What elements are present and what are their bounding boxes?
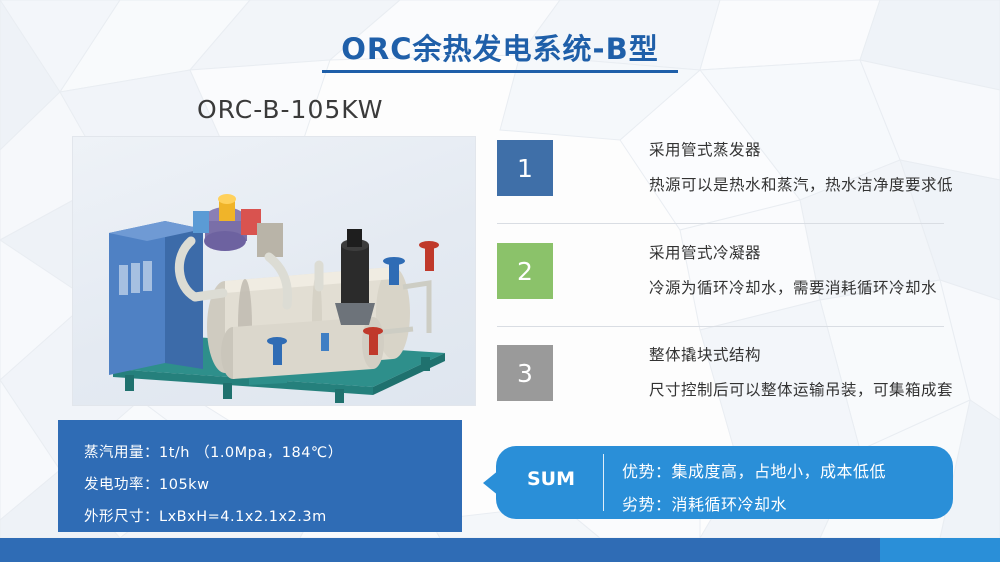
page-title: ORC余热发电系统-B型 [0, 26, 1000, 68]
spec-line-dimensions: 外形尺寸：LxBxH=4.1x2.1x2.3m [84, 505, 327, 526]
summary-separator [603, 454, 604, 511]
feature-number-2: 2 [497, 243, 553, 299]
feature-heading-2: 采用管式冷凝器 [649, 241, 937, 263]
feature-heading-1: 采用管式蒸发器 [649, 138, 953, 160]
bottom-bar-accent [880, 538, 1000, 562]
feature-text-1: 采用管式蒸发器 热源可以是热水和蒸汽，热水洁净度要求低 [649, 138, 953, 195]
feature-detail-1: 热源可以是热水和蒸汽，热水洁净度要求低 [649, 173, 953, 195]
title-underline [322, 70, 678, 73]
summary-label: SUM [527, 468, 575, 490]
feature-divider-1 [497, 223, 944, 224]
feature-number-1: 1 [497, 140, 553, 196]
feature-item-1: 1 采用管式蒸发器 热源可以是热水和蒸汽，热水洁净度要求低 [497, 140, 953, 196]
feature-detail-2: 冷源为循环冷却水，需要消耗循环冷却水 [649, 276, 937, 298]
feature-heading-3: 整体撬块式结构 [649, 343, 953, 365]
model-name: ORC-B-105KW [197, 95, 384, 124]
summary-panel: SUM 优势：集成度高，占地小，成本低低 劣势：消耗循环冷却水 [496, 446, 953, 519]
spec-line-steam: 蒸汽用量：1t/h （1.0Mpa，184℃） [84, 441, 343, 462]
spec-line-power: 发电功率：105kw [84, 473, 209, 494]
summary-line-advantage: 优势：集成度高，占地小，成本低低 [622, 458, 886, 482]
bottom-bar [0, 538, 1000, 562]
feature-item-3: 3 整体撬块式结构 尺寸控制后可以整体运输吊装，可集箱成套 [497, 345, 953, 401]
summary-line-disadvantage: 劣势：消耗循环冷却水 [622, 491, 886, 515]
summary-callout: SUM 优势：集成度高，占地小，成本低低 劣势：消耗循环冷却水 [483, 446, 953, 519]
slide-root: ORC余热发电系统-B型 ORC-B-105KW [0, 0, 1000, 562]
feature-item-2: 2 采用管式冷凝器 冷源为循环冷却水，需要消耗循环冷却水 [497, 243, 937, 299]
product-image [72, 136, 476, 406]
summary-text: 优势：集成度高，占地小，成本低低 劣势：消耗循环冷却水 [622, 458, 886, 524]
feature-detail-3: 尺寸控制后可以整体运输吊装，可集箱成套 [649, 378, 953, 400]
feature-divider-2 [497, 326, 944, 327]
feature-number-3: 3 [497, 345, 553, 401]
spec-panel: 蒸汽用量：1t/h （1.0Mpa，184℃） 发电功率：105kw 外形尺寸：… [58, 420, 462, 532]
feature-text-2: 采用管式冷凝器 冷源为循环冷却水，需要消耗循环冷却水 [649, 241, 937, 298]
feature-text-3: 整体撬块式结构 尺寸控制后可以整体运输吊装，可集箱成套 [649, 343, 953, 400]
